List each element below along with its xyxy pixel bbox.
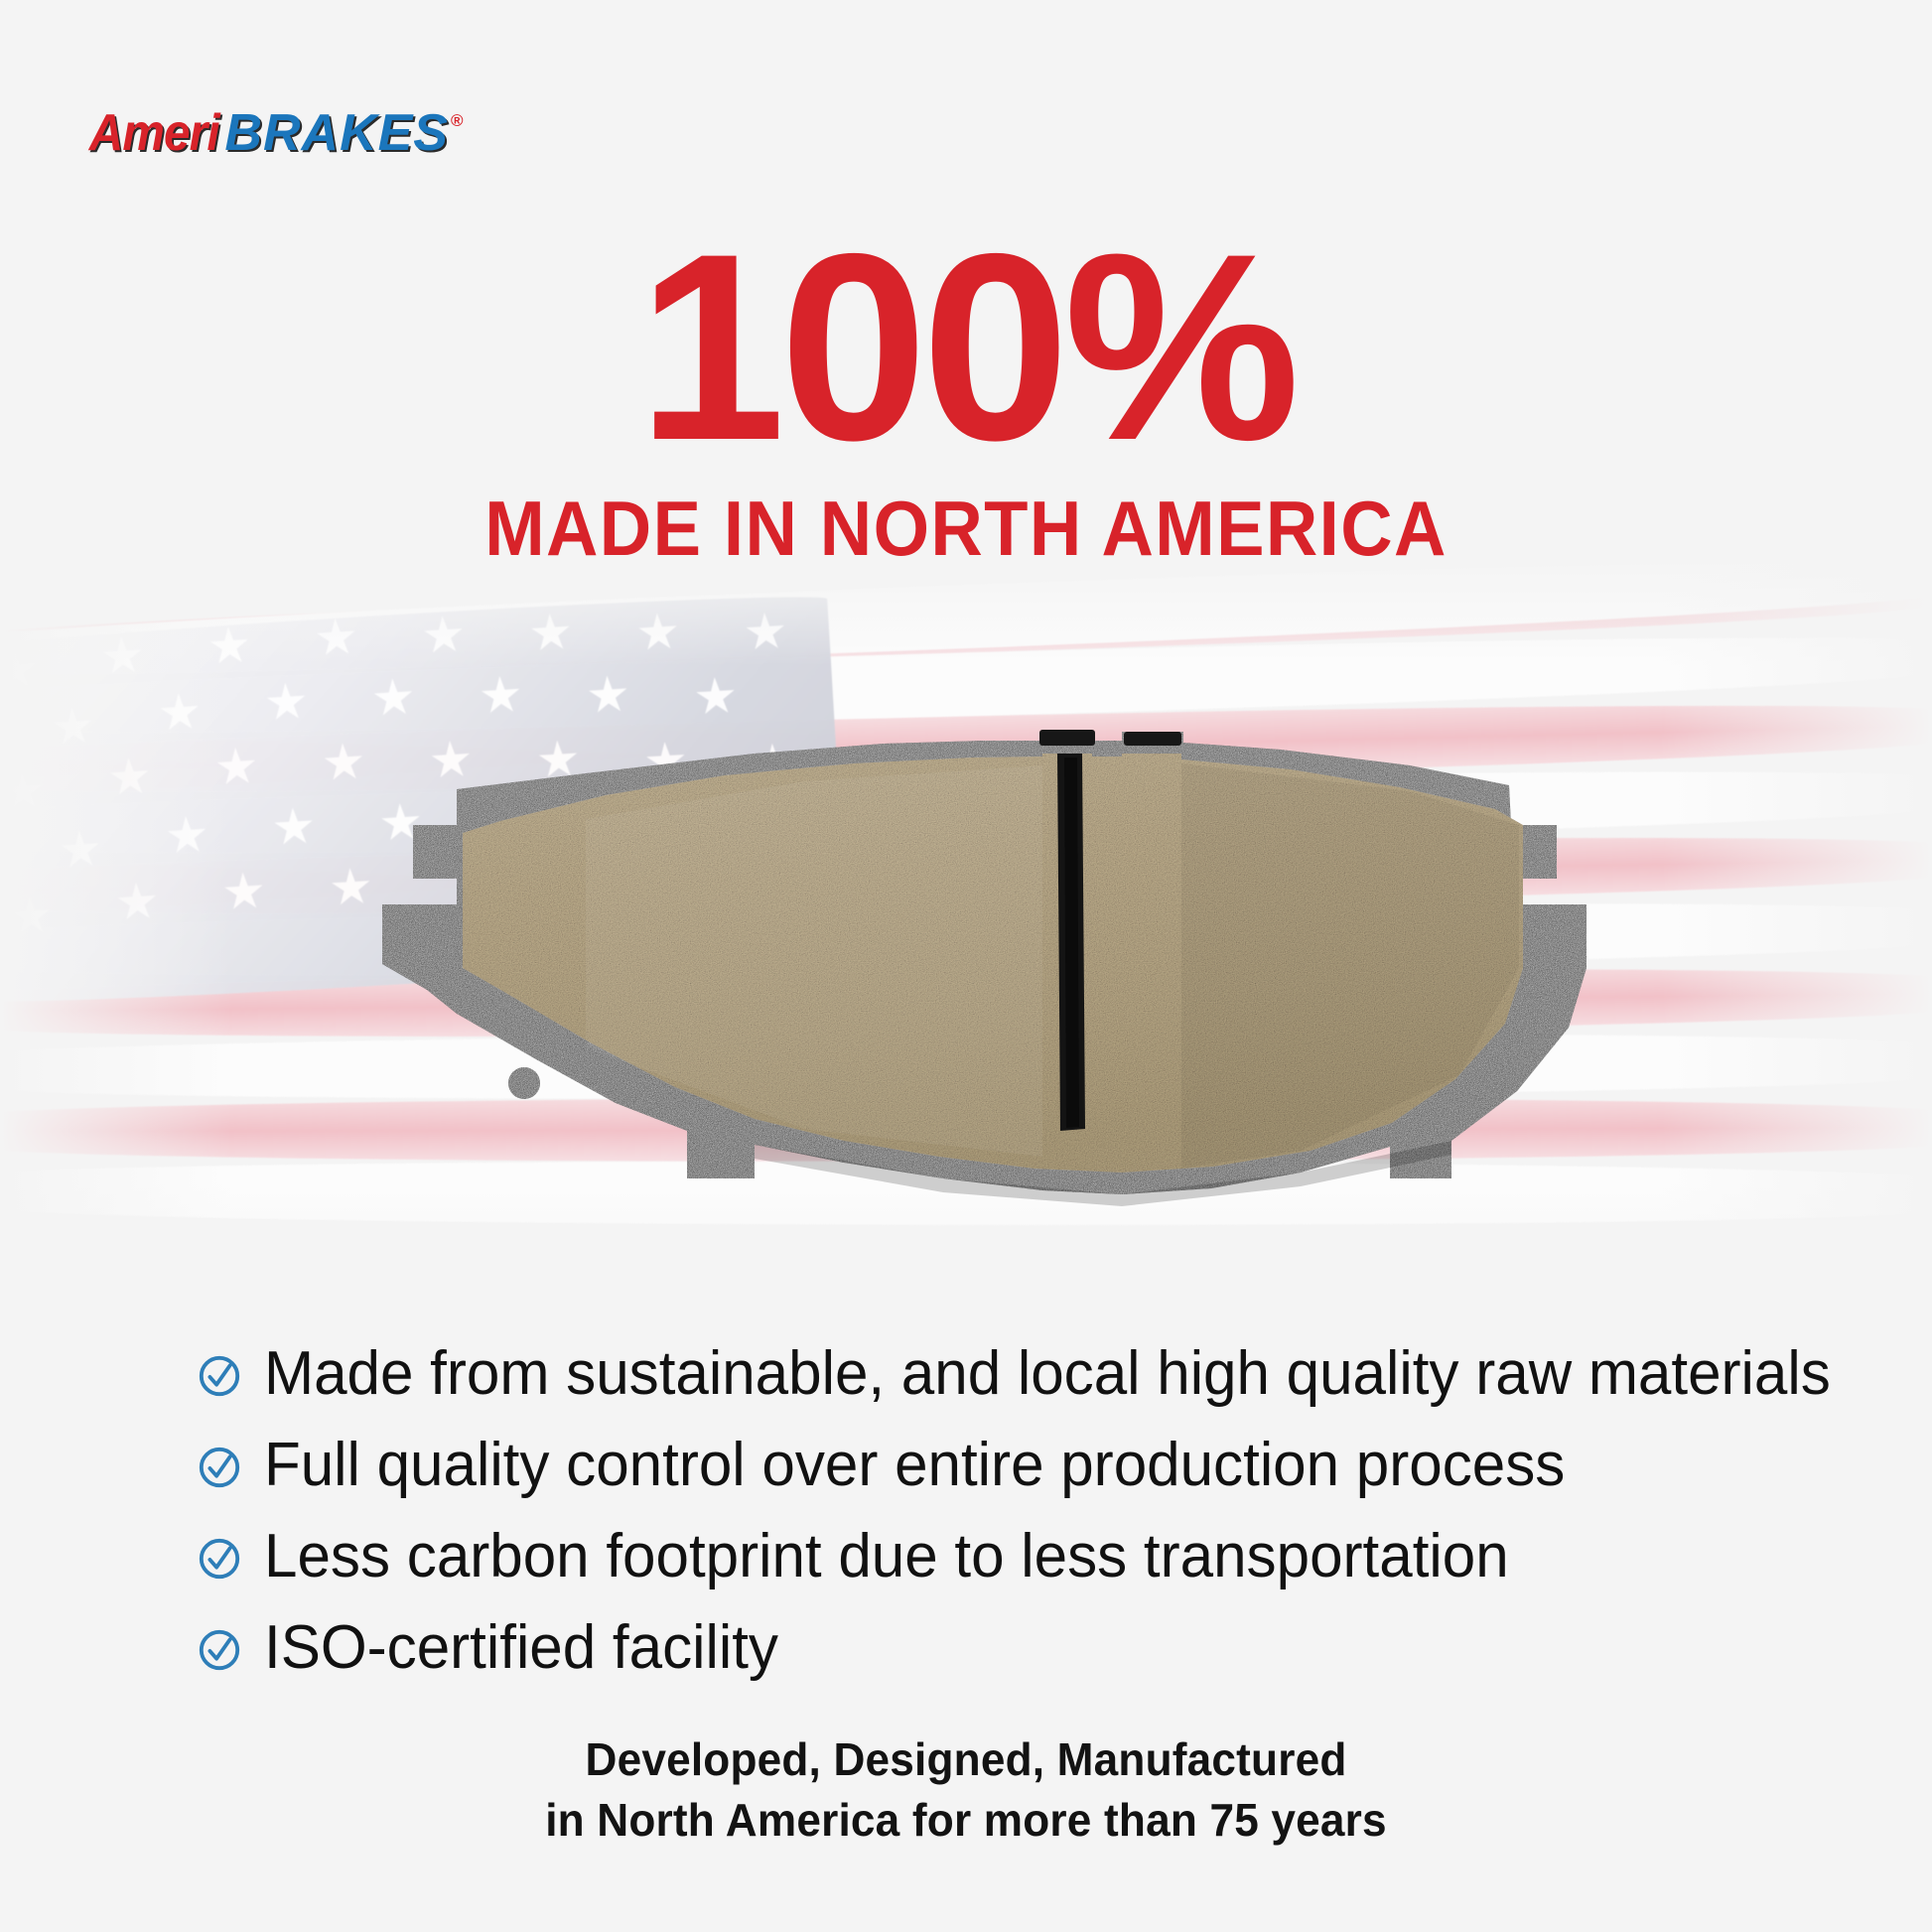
footer-block: Developed, Designed, Manufactured in Nor… (0, 1729, 1932, 1850)
feature-list: Made from sustainable, and local high qu… (197, 1328, 1745, 1694)
list-item-label: Full quality control over entire product… (264, 1435, 1565, 1496)
list-item-label: Less carbon footprint due to less transp… (264, 1526, 1509, 1587)
list-item: Less carbon footprint due to less transp… (197, 1511, 1745, 1602)
list-item: ISO-certified facility (197, 1602, 1745, 1694)
flag-stripe (0, 625, 1932, 746)
flag-stripe (0, 556, 1932, 688)
brand-logo-brakes: BRAKES (224, 107, 449, 159)
headline-block: 100% MADE IN NORTH AMERICA (0, 216, 1932, 567)
footer-line-1: Developed, Designed, Manufactured (39, 1729, 1893, 1790)
check-circle-icon (197, 1627, 242, 1673)
brand-logo-ameri: Ameri (89, 107, 219, 159)
flag-stripe (0, 558, 1932, 685)
headline-subtitle: MADE IN NORTH AMERICA (68, 489, 1864, 567)
list-item: Made from sustainable, and local high qu… (197, 1328, 1745, 1420)
footer-line-2: in North America for more than 75 years (39, 1790, 1893, 1851)
list-item-label: ISO-certified facility (264, 1617, 778, 1679)
page-title: 100% (0, 216, 1932, 478)
check-circle-icon (197, 1353, 242, 1399)
brake-pad-illustration (288, 730, 1678, 1246)
product-feature-banner: AmeriBRAKES® 100% MADE IN NORTH AMERICA (0, 0, 1932, 1932)
check-circle-icon (197, 1445, 242, 1490)
list-item: Full quality control over entire product… (197, 1420, 1745, 1511)
brake-pad-product-image (288, 730, 1678, 1246)
registered-trademark-icon: ® (451, 111, 463, 130)
brand-logo[interactable]: AmeriBRAKES® (83, 107, 461, 159)
check-circle-icon (197, 1536, 242, 1582)
list-item-label: Made from sustainable, and local high qu… (264, 1343, 1831, 1405)
